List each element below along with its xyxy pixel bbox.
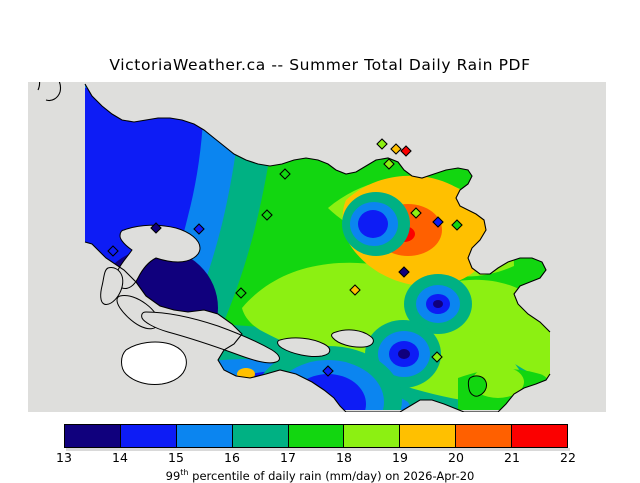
colorbar-tick-16: 16 [212,450,252,465]
colorbar-band-16-17[interactable] [233,425,289,447]
screenshot-root: VictoriaWeather.ca -- Summer Total Daily… [0,0,640,480]
colorbar-band-15-16[interactable] [177,425,233,447]
colorbar-band-14-15[interactable] [121,425,177,447]
colorbar-tick-19: 19 [380,450,420,465]
colorbar[interactable]: 13141516171819202122 99th percentile of … [0,424,640,480]
colorbar-band-13-14[interactable] [65,425,121,447]
colorbar-tick-22: 22 [548,450,588,465]
contour-map[interactable] [28,82,606,412]
colorbar-tick-21: 21 [492,450,532,465]
page-title: VictoriaWeather.ca -- Summer Total Daily… [0,56,640,74]
colorbar-tick-14: 14 [100,450,140,465]
caption-ordinal: th [180,468,188,477]
colorbar-band-19-20[interactable] [400,425,456,447]
caption-suffix: percentile of daily rain (mm/day) on 202… [189,469,475,483]
colorbar-tick-13: 13 [44,450,84,465]
colorbar-band-18-19[interactable] [344,425,400,447]
colorbar-tick-17: 17 [268,450,308,465]
pocket-b-13-14 [433,300,443,308]
colorbar-tick-18: 18 [324,450,364,465]
colorbar-strip[interactable] [64,424,568,448]
colorbar-tick-15: 15 [156,450,196,465]
colorbar-tick-20: 20 [436,450,476,465]
colorbar-band-20-21[interactable] [456,425,512,447]
inland-water-west [122,342,187,385]
pocket-a-14-15 [358,210,388,238]
colorbar-band-17-18[interactable] [289,425,345,447]
colorbar-band-21-22[interactable] [512,425,567,447]
caption-prefix: 99 [166,469,181,483]
pocket-c-13-14 [398,349,410,359]
colorbar-caption: 99th percentile of daily rain (mm/day) o… [0,468,640,483]
map-panel[interactable] [28,82,606,412]
colorbar-tick-labels: 13141516171819202122 [0,450,640,466]
